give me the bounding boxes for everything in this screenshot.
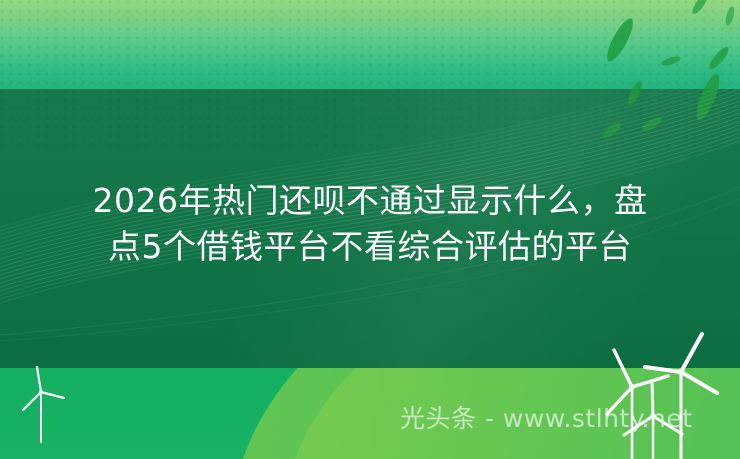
- halftone-dot-pattern: [0, 0, 740, 89]
- background-band-top: [0, 0, 740, 89]
- title-line-1: 2026年热门还呗不通过显示什么，盘: [40, 178, 700, 224]
- title-line-2: 点5个借钱平台不看综合评估的平台: [40, 224, 700, 270]
- article-cover-banner: 2026年热门还呗不通过显示什么，盘 点5个借钱平台不看综合评估的平台 光头条 …: [0, 0, 740, 459]
- site-watermark: 光头条 - www.stlhty.net: [400, 404, 693, 434]
- cover-title: 2026年热门还呗不通过显示什么，盘 点5个借钱平台不看综合评估的平台: [0, 178, 740, 270]
